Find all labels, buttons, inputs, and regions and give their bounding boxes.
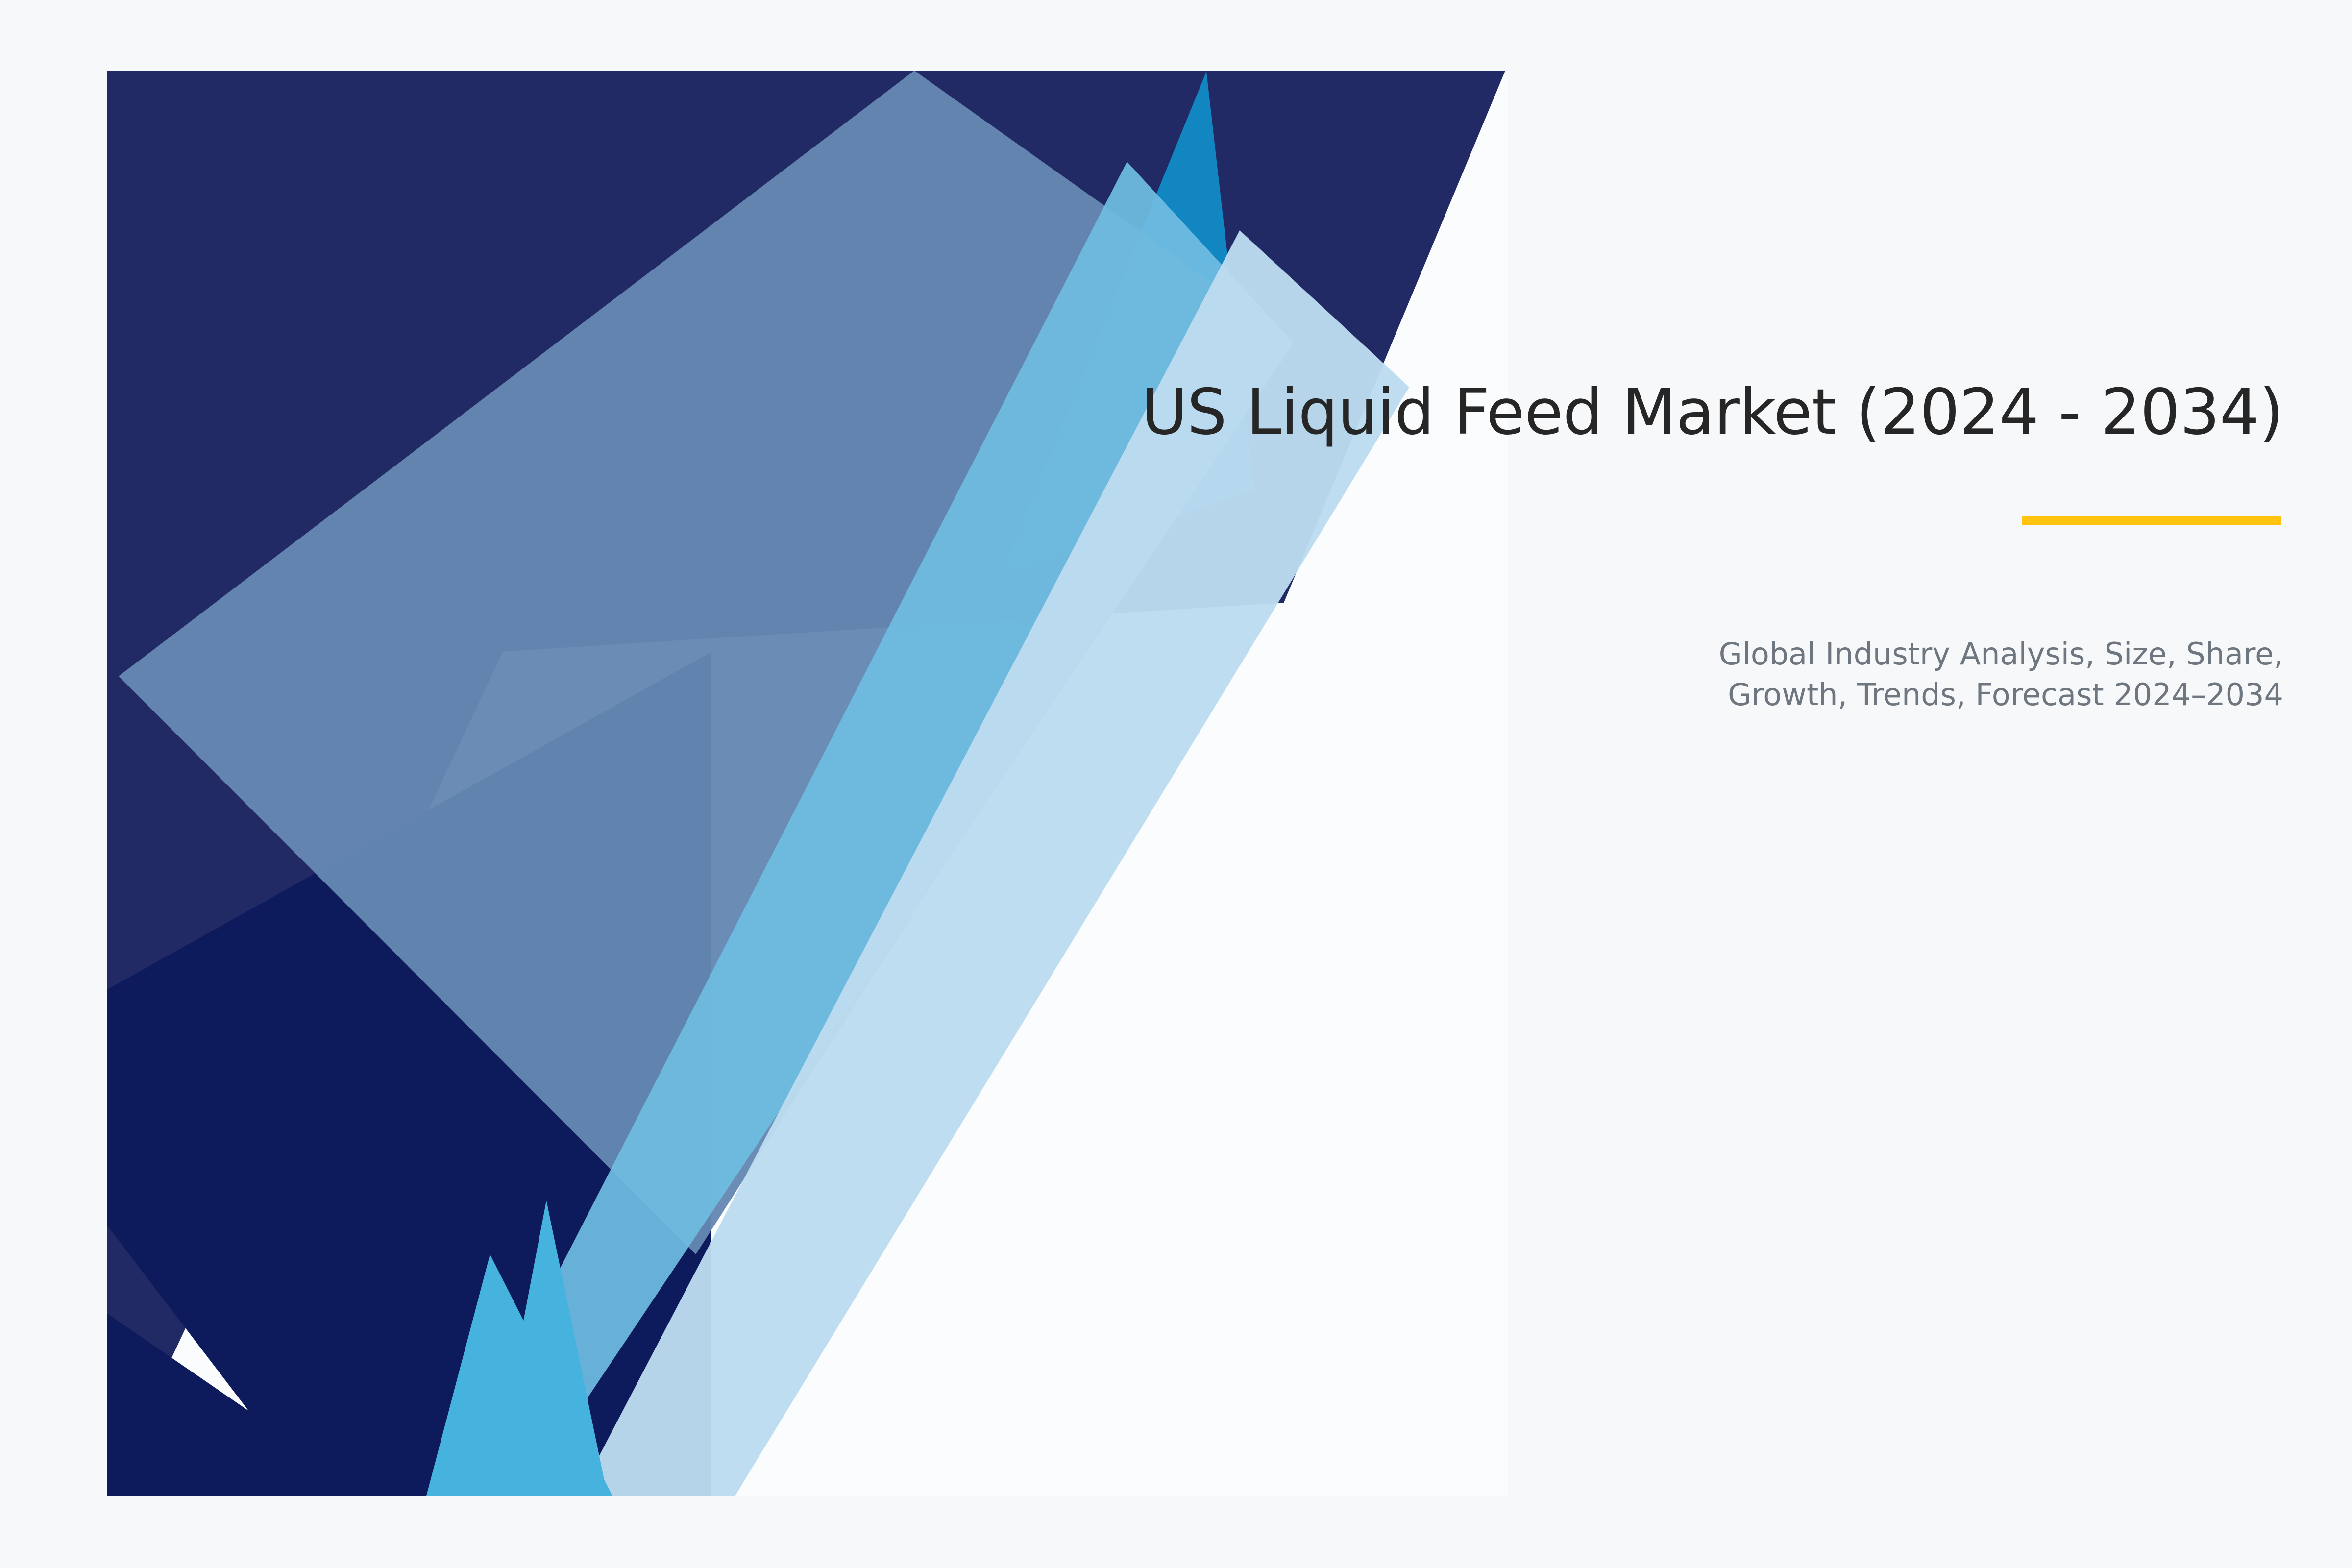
report-cover-slide: US Liquid Feed Market (2024 - 2034) Glob… <box>0 0 2352 1568</box>
title-accent-rule <box>2022 516 2281 525</box>
title-block: US Liquid Feed Market (2024 - 2034) Glob… <box>735 377 2283 715</box>
page-subtitle-line-1: Global Industry Analysis, Size, Share, <box>735 634 2283 674</box>
shape-deep-navy-chevron <box>107 652 711 1496</box>
abstract-geometric-artwork <box>0 0 2352 1568</box>
artwork-base-panel <box>107 71 1508 1496</box>
shape-navy-left-wedge <box>107 71 735 1496</box>
shape-deep-navy-lower-left <box>107 1313 372 1496</box>
shape-cyan-bottom-accent-2 <box>490 1200 608 1496</box>
page-subtitle: Global Industry Analysis, Size, Share, G… <box>735 634 2283 715</box>
shape-cyan-bottom-accent <box>426 1254 612 1496</box>
page-subtitle-line-2: Growth, Trends, Forecast 2024–2034 <box>735 675 2283 715</box>
shape-mid-blue-band <box>443 162 1294 1496</box>
page-title: US Liquid Feed Market (2024 - 2034) <box>735 377 2283 447</box>
